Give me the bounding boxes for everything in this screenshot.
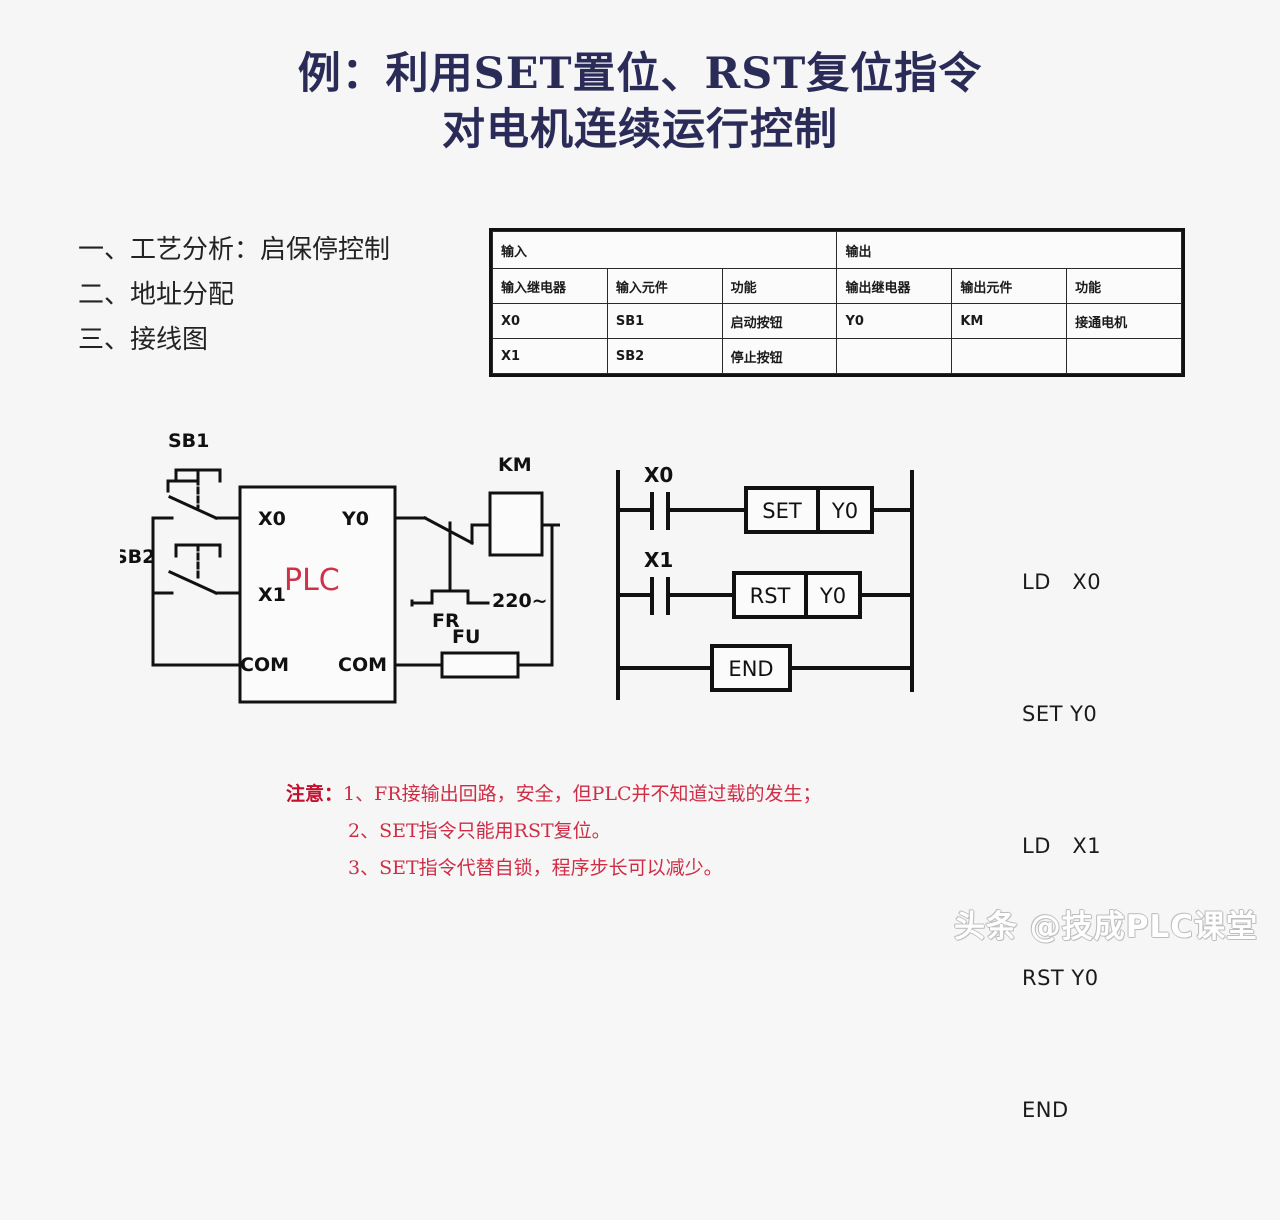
outline-item-2: 二、地址分配: [78, 273, 390, 318]
column-header-input-relay: 输入继电器: [493, 269, 608, 304]
slide-canvas: 例：利用SET置位、RST复位指令 对电机连续运行控制 一、工艺分析：启保停控制…: [0, 0, 1280, 960]
ladder-contact-label-x1: X1: [644, 548, 673, 572]
instruction-line-3: LD X1: [1022, 824, 1101, 868]
group-header-output: 输出: [837, 232, 1182, 269]
label-supply-voltage: 220~: [492, 590, 548, 612]
outline-item-1: 一、工艺分析：启保停控制: [78, 228, 390, 273]
table-row: X1 SB2 停止按钮: [493, 339, 1182, 374]
group-header-input: 输入: [493, 232, 837, 269]
instruction-line-1: LD X0: [1022, 560, 1101, 604]
cell-input-element: SB2: [607, 339, 722, 374]
cell-input-relay: X0: [493, 304, 608, 339]
ladder-instruction-rst: RST: [750, 584, 791, 608]
title-line-1: 例：利用SET置位、RST复位指令: [298, 49, 983, 99]
terminal-label-x0: X0: [258, 508, 286, 530]
label-fu: FU: [452, 626, 480, 648]
instruction-line-2: SET Y0: [1022, 692, 1101, 736]
table-group-header-row: 输入 输出: [493, 232, 1182, 269]
ladder-instruction-set: SET: [762, 499, 802, 523]
title-line-2: 对电机连续运行控制: [0, 102, 1280, 158]
ladder-operand-set: Y0: [831, 499, 858, 523]
ladder-operand-rst: Y0: [819, 584, 846, 608]
note-row-2: 2、SET指令只能用RST复位。: [286, 813, 822, 850]
km-coil-box: [490, 493, 542, 555]
column-header-input-function: 功能: [722, 269, 837, 304]
cell-output-function: 接通电机: [1067, 304, 1182, 339]
io-address-table: 输入 输出 输入继电器 输入元件 功能 输出继电器 输出元件 功能 X0 SB1…: [489, 228, 1185, 377]
outline-list: 一、工艺分析：启保停控制 二、地址分配 三、接线图: [78, 228, 390, 363]
label-sb2: SB2: [120, 546, 155, 568]
ladder-contact-label-x0: X0: [644, 463, 673, 487]
notes-block: 注意：1、FR接输出回路，安全，但PLC并不知道过载的发生； 2、SET指令只能…: [286, 776, 822, 887]
column-header-output-function: 功能: [1067, 269, 1182, 304]
note-item-2: 2、SET指令只能用RST复位。: [348, 820, 611, 842]
column-header-output-element: 输出元件: [952, 269, 1067, 304]
note-row-3: 3、SET指令代替自锁，程序步长可以减少。: [286, 850, 822, 887]
table-row: X0 SB1 启动按钮 Y0 KM 接通电机: [493, 304, 1182, 339]
plc-label: PLC: [284, 563, 340, 598]
ladder-diagram: X0 X1 SET Y0 RST Y0 END: [600, 450, 940, 710]
table-column-header-row: 输入继电器 输入元件 功能 输出继电器 输出元件 功能: [493, 269, 1182, 304]
column-header-input-element: 输入元件: [607, 269, 722, 304]
cell-output-element: [952, 339, 1067, 374]
cell-output-relay: [837, 339, 952, 374]
notes-lead-label: 注意：: [286, 783, 343, 805]
instruction-line-4: RST Y0: [1022, 956, 1101, 1000]
outline-item-3: 三、接线图: [78, 318, 390, 363]
note-row-1: 注意：1、FR接输出回路，安全，但PLC并不知道过载的发生；: [286, 776, 822, 813]
terminal-label-x1: X1: [258, 584, 286, 606]
label-km: KM: [498, 454, 532, 476]
plc-wiring-diagram: SB1 SB2 X0 X1 Y0 COM COM PLC KM FR FU 22…: [120, 415, 560, 725]
cell-input-element: SB1: [607, 304, 722, 339]
terminal-label-com-left: COM: [240, 654, 289, 676]
label-sb1: SB1: [168, 430, 209, 452]
fu-fuse-box: [442, 653, 518, 677]
cell-output-relay: Y0: [837, 304, 952, 339]
instruction-line-5: END: [1022, 1088, 1101, 1132]
terminal-label-com-right: COM: [338, 654, 387, 676]
note-item-1: 1、FR接输出回路，安全，但PLC并不知道过载的发生；: [343, 783, 822, 805]
cell-output-function: [1067, 339, 1182, 374]
watermark: 头条 @技成PLC课堂: [954, 901, 1258, 946]
cell-output-element: KM: [952, 304, 1067, 339]
terminal-label-y0: Y0: [341, 508, 369, 530]
column-header-output-relay: 输出继电器: [837, 269, 952, 304]
page-title: 例：利用SET置位、RST复位指令 对电机连续运行控制: [0, 46, 1280, 158]
ladder-instruction-end: END: [728, 657, 773, 681]
cell-input-function: 启动按钮: [722, 304, 837, 339]
cell-input-relay: X1: [493, 339, 608, 374]
instruction-list: LD X0 SET Y0 LD X1 RST Y0 END: [1022, 472, 1101, 1220]
cell-input-function: 停止按钮: [722, 339, 837, 374]
note-item-3: 3、SET指令代替自锁，程序步长可以减少。: [348, 857, 723, 879]
